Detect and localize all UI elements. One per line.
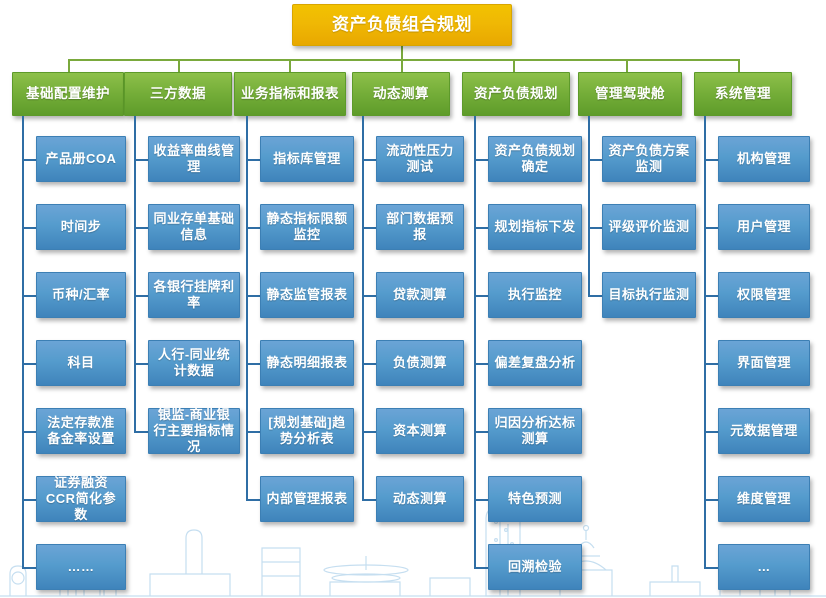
stub-3-0 bbox=[362, 159, 376, 161]
stub-4-0 bbox=[474, 159, 488, 161]
leaf-label: 人行-同业统计数据 bbox=[153, 347, 235, 380]
category-box-1[interactable]: 三方数据 bbox=[124, 72, 232, 116]
leaf-label: ... bbox=[758, 559, 770, 575]
stub-1-3 bbox=[134, 363, 148, 365]
category-label: 系统管理 bbox=[715, 86, 771, 103]
leaf-label: 元数据管理 bbox=[730, 423, 798, 439]
category-box-0[interactable]: 基础配置维护 bbox=[12, 72, 124, 116]
leaf-label: 规划指标下发 bbox=[494, 219, 575, 235]
leaf-label: 回溯检验 bbox=[508, 559, 562, 575]
stub-4-5 bbox=[474, 499, 488, 501]
stub-5-1 bbox=[588, 227, 602, 229]
stub-0-0 bbox=[22, 159, 36, 161]
stub-4-2 bbox=[474, 295, 488, 297]
stub-3-1 bbox=[362, 227, 376, 229]
connector-cat-6 bbox=[738, 59, 740, 72]
leaf-label: 贷款测算 bbox=[393, 287, 447, 303]
category-label: 三方数据 bbox=[150, 86, 206, 103]
stub-5-0 bbox=[588, 159, 602, 161]
leaf-label: 资本测算 bbox=[393, 423, 447, 439]
leaf-label: 银监-商业银行主要指标情况 bbox=[153, 407, 235, 456]
leaf-label: 证券融资CCR简化参数 bbox=[41, 475, 121, 524]
leaf-2-3[interactable]: 静态明细报表 bbox=[260, 340, 354, 386]
leaf-5-0[interactable]: 资产负债方案监测 bbox=[602, 136, 696, 182]
leaf-2-5[interactable]: 内部管理报表 bbox=[260, 476, 354, 522]
leaf-label: 资产负债规划确定 bbox=[493, 143, 577, 176]
leaf-label: 收益率曲线管理 bbox=[153, 143, 235, 176]
leaf-5-2[interactable]: 目标执行监测 bbox=[602, 272, 696, 318]
leaf-4-0[interactable]: 资产负债规划确定 bbox=[488, 136, 582, 182]
stub-0-5 bbox=[22, 499, 36, 501]
connector-bus-green bbox=[68, 59, 738, 61]
stub-2-3 bbox=[246, 363, 260, 365]
leaf-label: 目标执行监测 bbox=[608, 287, 689, 303]
leaf-6-2[interactable]: 权限管理 bbox=[718, 272, 810, 318]
leaf-3-4[interactable]: 资本测算 bbox=[376, 408, 464, 454]
stub-6-4 bbox=[704, 431, 718, 433]
stub-2-5 bbox=[246, 499, 260, 501]
stub-4-6 bbox=[474, 567, 488, 569]
leaf-label: 归因分析达标测算 bbox=[493, 415, 577, 448]
leaf-label: 指标库管理 bbox=[273, 151, 341, 167]
category-label: 基础配置维护 bbox=[26, 86, 110, 103]
category-box-5[interactable]: 管理驾驶舱 bbox=[578, 72, 682, 116]
stub-6-6 bbox=[704, 567, 718, 569]
leaf-0-6[interactable]: …… bbox=[36, 544, 126, 590]
category-label: 动态测算 bbox=[373, 86, 429, 103]
diagram-canvas: 基础配置维护 三方数据 业务指标和报表 动态测算 资产负债规划 管理驾驶舱 系统… bbox=[0, 0, 826, 598]
leaf-label: 机构管理 bbox=[737, 151, 791, 167]
stub-2-0 bbox=[246, 159, 260, 161]
leaf-2-4[interactable]: [规划基础]趋势分析表 bbox=[260, 408, 354, 454]
stub-2-2 bbox=[246, 295, 260, 297]
leaf-1-4[interactable]: 银监-商业银行主要指标情况 bbox=[148, 408, 240, 454]
leaf-6-3[interactable]: 界面管理 bbox=[718, 340, 810, 386]
stub-4-1 bbox=[474, 227, 488, 229]
leaf-label: [规划基础]趋势分析表 bbox=[265, 415, 349, 448]
trunk-col-3 bbox=[362, 116, 364, 500]
trunk-col-1 bbox=[134, 116, 136, 432]
leaf-label: 动态测算 bbox=[393, 491, 447, 507]
category-label: 业务指标和报表 bbox=[241, 86, 339, 103]
stub-1-0 bbox=[134, 159, 148, 161]
category-label: 资产负债规划 bbox=[474, 86, 558, 103]
leaf-label: 同业存单基础信息 bbox=[153, 211, 235, 244]
leaf-0-2[interactable]: 币种/汇率 bbox=[36, 272, 126, 318]
connector-cat-3 bbox=[401, 59, 403, 72]
leaf-0-3[interactable]: 科目 bbox=[36, 340, 126, 386]
leaf-4-2[interactable]: 执行监控 bbox=[488, 272, 582, 318]
leaf-4-1[interactable]: 规划指标下发 bbox=[488, 204, 582, 250]
leaf-4-3[interactable]: 偏差复盘分析 bbox=[488, 340, 582, 386]
stub-2-4 bbox=[246, 431, 260, 433]
stub-1-4 bbox=[134, 431, 148, 433]
leaf-label: 特色预测 bbox=[508, 491, 562, 507]
leaf-1-3[interactable]: 人行-同业统计数据 bbox=[148, 340, 240, 386]
leaf-4-4[interactable]: 归因分析达标测算 bbox=[488, 408, 582, 454]
leaf-2-1[interactable]: 静态指标限额监控 bbox=[260, 204, 354, 250]
stub-1-1 bbox=[134, 227, 148, 229]
leaf-label: 负债测算 bbox=[393, 355, 447, 371]
leaf-6-5[interactable]: 维度管理 bbox=[718, 476, 810, 522]
leaf-label: 维度管理 bbox=[737, 491, 791, 507]
leaf-label: 各银行挂牌利率 bbox=[153, 279, 235, 312]
stub-6-3 bbox=[704, 363, 718, 365]
stub-2-1 bbox=[246, 227, 260, 229]
stub-3-2 bbox=[362, 295, 376, 297]
leaf-label: 静态监管报表 bbox=[266, 287, 347, 303]
leaf-3-0[interactable]: 流动性压力测试 bbox=[376, 136, 464, 182]
leaf-6-6[interactable]: ... bbox=[718, 544, 810, 590]
leaf-label: 时间步 bbox=[61, 219, 102, 235]
leaf-0-5[interactable]: 证券融资CCR简化参数 bbox=[36, 476, 126, 522]
leaf-label: 部门数据预报 bbox=[381, 211, 459, 244]
leaf-1-2[interactable]: 各银行挂牌利率 bbox=[148, 272, 240, 318]
stub-0-1 bbox=[22, 227, 36, 229]
connector-root-down bbox=[401, 46, 403, 60]
leaf-label: …… bbox=[68, 559, 95, 575]
stub-0-2 bbox=[22, 295, 36, 297]
leaf-label: 评级评价监测 bbox=[608, 219, 689, 235]
stub-0-6 bbox=[22, 567, 36, 569]
leaf-3-5[interactable]: 动态测算 bbox=[376, 476, 464, 522]
leaf-label: 资产负债方案监测 bbox=[607, 143, 691, 176]
stub-3-3 bbox=[362, 363, 376, 365]
leaf-label: 静态指标限额监控 bbox=[265, 211, 349, 244]
leaf-1-0[interactable]: 收益率曲线管理 bbox=[148, 136, 240, 182]
leaf-label: 币种/汇率 bbox=[52, 287, 110, 303]
leaf-6-0[interactable]: 机构管理 bbox=[718, 136, 810, 182]
stub-4-3 bbox=[474, 363, 488, 365]
leaf-4-6[interactable]: 回溯检验 bbox=[488, 544, 582, 590]
leaf-label: 界面管理 bbox=[737, 355, 791, 371]
leaf-5-1[interactable]: 评级评价监测 bbox=[602, 204, 696, 250]
stub-6-0 bbox=[704, 159, 718, 161]
stub-3-5 bbox=[362, 499, 376, 501]
root-title: 资产负债组合规划 bbox=[332, 14, 472, 35]
connector-cat-1 bbox=[178, 59, 180, 72]
stub-6-5 bbox=[704, 499, 718, 501]
stub-0-3 bbox=[22, 363, 36, 365]
leaf-label: 执行监控 bbox=[508, 287, 562, 303]
leaf-label: 内部管理报表 bbox=[266, 491, 347, 507]
trunk-col-5 bbox=[588, 116, 590, 296]
leaf-label: 流动性压力测试 bbox=[381, 143, 459, 176]
leaf-4-5[interactable]: 特色预测 bbox=[488, 476, 582, 522]
stub-0-4 bbox=[22, 431, 36, 433]
category-box-4[interactable]: 资产负债规划 bbox=[462, 72, 570, 116]
leaf-0-0[interactable]: 产品册COA bbox=[36, 136, 126, 182]
root-node[interactable]: 资产负债组合规划 bbox=[292, 4, 512, 46]
stub-6-1 bbox=[704, 227, 718, 229]
connector-cat-2 bbox=[289, 59, 291, 72]
leaf-label: 用户管理 bbox=[737, 219, 791, 235]
leaf-3-2[interactable]: 贷款测算 bbox=[376, 272, 464, 318]
stub-5-2 bbox=[588, 295, 602, 297]
leaf-6-1[interactable]: 用户管理 bbox=[718, 204, 810, 250]
stub-1-2 bbox=[134, 295, 148, 297]
leaf-0-4[interactable]: 法定存款准备金率设置 bbox=[36, 408, 126, 454]
leaf-label: 产品册COA bbox=[46, 151, 117, 167]
stub-3-4 bbox=[362, 431, 376, 433]
category-label: 管理驾驶舱 bbox=[595, 86, 665, 103]
leaf-6-4[interactable]: 元数据管理 bbox=[718, 408, 810, 454]
leaf-label: 科目 bbox=[67, 355, 94, 371]
category-box-2[interactable]: 业务指标和报表 bbox=[234, 72, 346, 116]
category-box-6[interactable]: 系统管理 bbox=[694, 72, 792, 116]
leaf-1-1[interactable]: 同业存单基础信息 bbox=[148, 204, 240, 250]
connector-cat-0 bbox=[68, 59, 70, 72]
connector-cat-4 bbox=[513, 59, 515, 72]
leaf-2-2[interactable]: 静态监管报表 bbox=[260, 272, 354, 318]
leaf-3-1[interactable]: 部门数据预报 bbox=[376, 204, 464, 250]
stub-4-4 bbox=[474, 431, 488, 433]
leaf-label: 权限管理 bbox=[737, 287, 791, 303]
connector-cat-5 bbox=[626, 59, 628, 72]
leaf-0-1[interactable]: 时间步 bbox=[36, 204, 126, 250]
leaf-label: 偏差复盘分析 bbox=[494, 355, 575, 371]
leaf-3-3[interactable]: 负债测算 bbox=[376, 340, 464, 386]
leaf-label: 静态明细报表 bbox=[266, 355, 347, 371]
category-box-3[interactable]: 动态测算 bbox=[352, 72, 450, 116]
leaf-2-0[interactable]: 指标库管理 bbox=[260, 136, 354, 182]
trunk-col-2 bbox=[246, 116, 248, 500]
stub-6-2 bbox=[704, 295, 718, 297]
leaf-label: 法定存款准备金率设置 bbox=[41, 415, 121, 448]
